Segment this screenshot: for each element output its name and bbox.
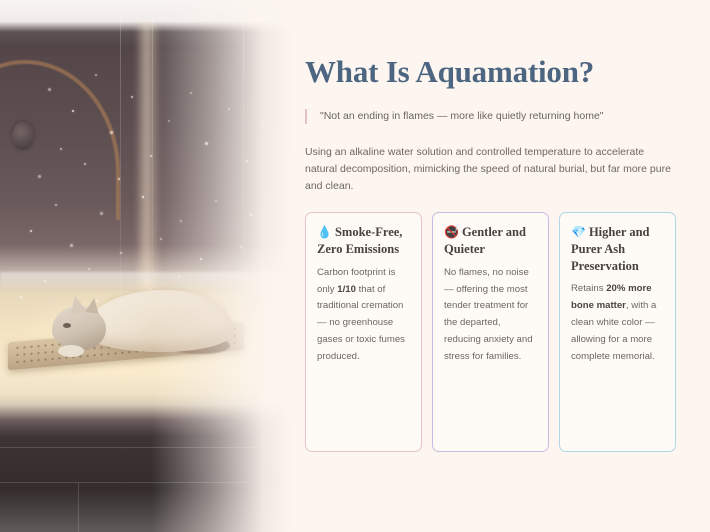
page-root: What Is Aquamation? "Not an ending in fl… (0, 0, 710, 532)
water-drop-icon: 💧 (317, 225, 332, 239)
benefit-card-body: No flames, no noise — offering the most … (444, 265, 537, 366)
benefit-card-heading: 💎Higher and Purer Ash Preservation (571, 224, 664, 274)
intro-paragraph: Using an alkaline water solution and con… (305, 144, 671, 195)
diamond-gem-icon: 💎 (571, 225, 586, 239)
benefit-card-body: Carbon footprint is only 1/10 that of tr… (317, 265, 410, 366)
benefit-card-heading: 🚭Gentler and Quieter (444, 224, 537, 257)
benefit-card-smoke-free-zero-emissions[interactable]: 💧Smoke-Free, Zero EmissionsCarbon footpr… (305, 212, 422, 452)
benefit-card-higher-purer-ash-preservation[interactable]: 💎Higher and Purer Ash PreservationRetain… (559, 212, 676, 452)
page-title: What Is Aquamation? (305, 56, 677, 89)
pull-quote: "Not an ending in flames — more like qui… (305, 109, 677, 125)
no-smoking-prohibition-icon: 🚭 (444, 225, 459, 239)
benefit-card-heading: 💧Smoke-Free, Zero Emissions (317, 224, 410, 257)
benefit-card-list: 💧Smoke-Free, Zero EmissionsCarbon footpr… (305, 212, 677, 452)
photo-edge-fade (0, 0, 292, 532)
content-column: What Is Aquamation? "Not an ending in fl… (305, 0, 677, 532)
benefit-card-gentler-and-quieter[interactable]: 🚭Gentler and QuieterNo flames, no noise … (432, 212, 549, 452)
aquamation-chamber-photo (0, 0, 292, 532)
benefit-card-body: Retains 20% more bone matter, with a cle… (571, 281, 664, 365)
